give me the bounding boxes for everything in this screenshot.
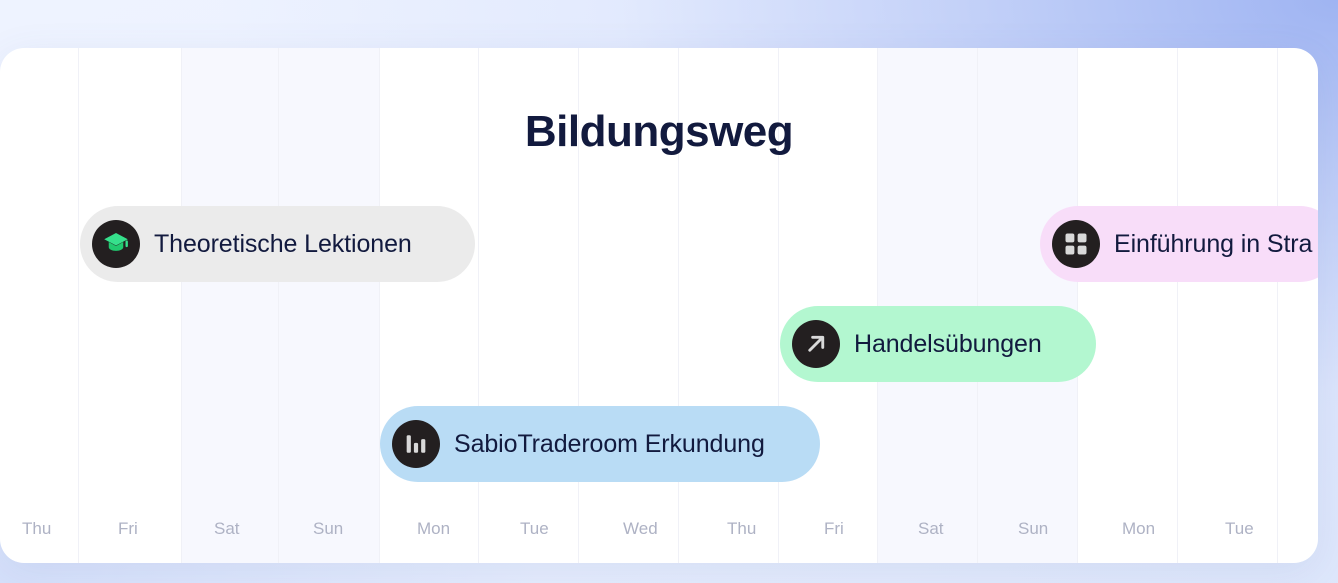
axis-tick-label: Fri [118,519,138,539]
axis-tick-label: Wed [623,519,658,539]
axis-tick-label: Tue [1225,519,1254,539]
timeline-bar[interactable]: SabioTraderoom Erkundung [380,406,820,482]
axis-tick-label: Sat [918,519,944,539]
timeline-bar-label: Einführung in Stra [1114,230,1312,259]
timeline-bar[interactable]: Handelsübungen [780,306,1096,382]
timeline-card: Bildungsweg Theoretische LektionenEinfüh… [0,48,1318,563]
grid-four-squares-icon [1052,220,1100,268]
axis-tick-label: Fri [824,519,844,539]
timeline-bar-label: Handelsübungen [854,330,1042,359]
axis-tick-label: Sun [1018,519,1048,539]
timeline-bar-label: Theoretische Lektionen [154,230,412,259]
axis-tick-label: Thu [727,519,756,539]
arrow-up-right-icon [792,320,840,368]
timeline-bar[interactable]: Theoretische Lektionen [80,206,475,282]
timeline-bar[interactable]: Einführung in Stra [1040,206,1318,282]
axis-tick-label: Tue [520,519,549,539]
axis-tick-label: Sun [313,519,343,539]
timeline-bar-label: SabioTraderoom Erkundung [454,430,765,459]
bar-chart-icon [392,420,440,468]
graduation-cap-icon [92,220,140,268]
axis-tick-label: Mon [417,519,450,539]
page-title: Bildungsweg [0,107,1318,157]
axis-tick-label: Thu [22,519,51,539]
axis-tick-label: Sat [214,519,240,539]
timeline-axis: ThuFriSatSunMonTueWedThuFriSatSunMonTueM [0,501,1318,563]
axis-tick-label: Mon [1122,519,1155,539]
